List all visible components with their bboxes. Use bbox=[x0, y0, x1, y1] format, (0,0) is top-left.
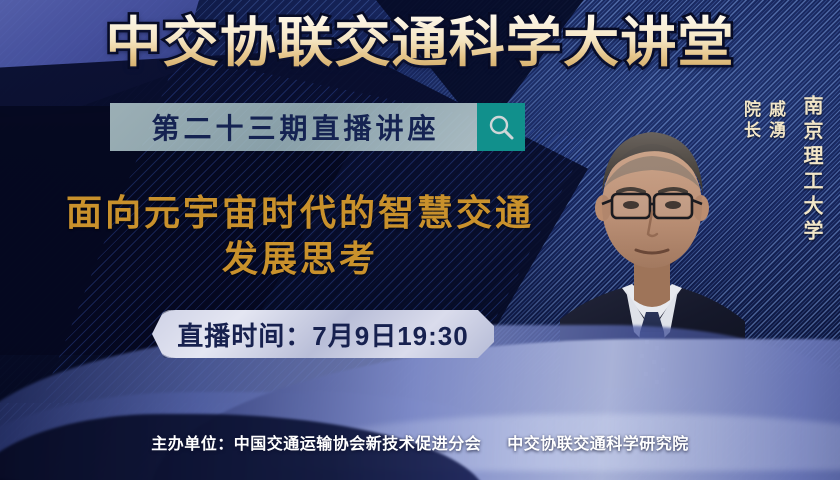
lecture-title-line-1: 面向元宇宙时代的智慧交通 bbox=[66, 192, 534, 233]
lecture-title: 面向元宇宙时代的智慧交通 发展思考 bbox=[40, 190, 560, 282]
speaker-name: 戚湧 bbox=[763, 100, 788, 142]
lecture-title-line-2: 发展思考 bbox=[40, 236, 560, 282]
broadcast-time-badge: 直播时间：7月9日19:30 bbox=[152, 310, 494, 358]
series-label: 第二十三期直播讲座 bbox=[110, 103, 477, 151]
live-stream-poster: 中交协联交通科学大讲堂 中交协联交通科学大讲堂 第二十三期直播讲座 面向元宇宙时… bbox=[0, 0, 840, 480]
footer-org-2: 中交协联交通科学研究院 bbox=[507, 436, 689, 453]
series-bar: 第二十三期直播讲座 bbox=[110, 103, 525, 151]
footer-org-1: 中国交通运输协会新技术促进分会 bbox=[234, 436, 482, 453]
speaker-identity: 戚湧 院长 bbox=[738, 100, 788, 158]
footer-organizers: 主办单位：中国交通运输协会新技术促进分会中交协联交通科学研究院 bbox=[0, 430, 840, 454]
speaker-organization: 南京理工大学 bbox=[797, 95, 826, 245]
speaker-title: 院长 bbox=[738, 100, 763, 158]
main-title: 中交协联交通科学大讲堂 bbox=[0, 14, 840, 73]
search-icon[interactable] bbox=[477, 103, 525, 151]
footer-prefix: 主办单位： bbox=[151, 436, 234, 453]
